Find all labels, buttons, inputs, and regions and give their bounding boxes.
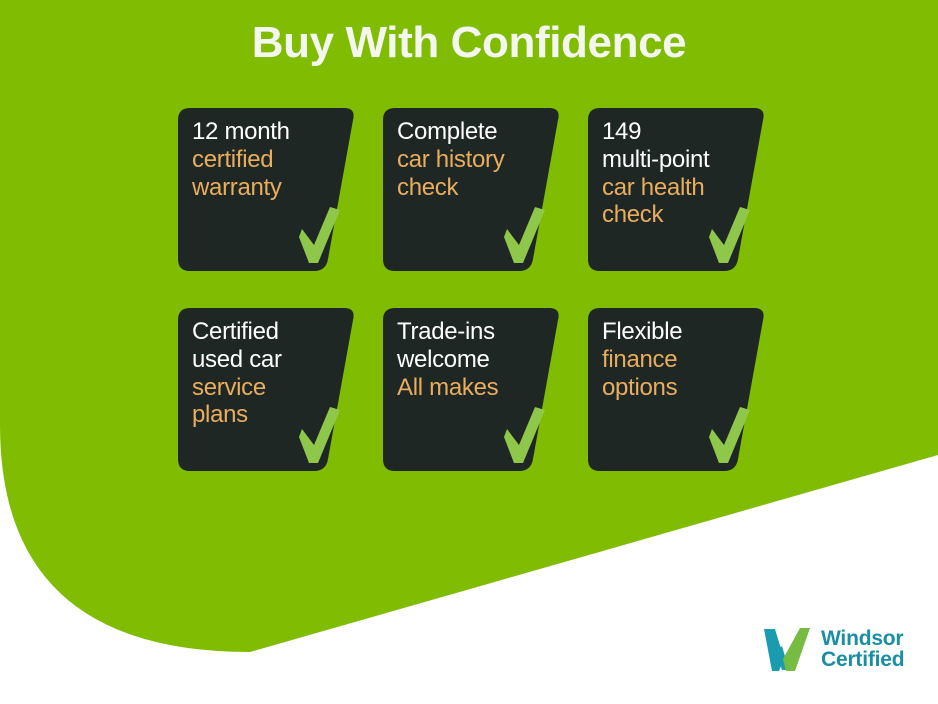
card-line: All makes — [397, 374, 543, 402]
check-icon — [296, 407, 342, 463]
windsor-w-icon — [762, 626, 812, 672]
windsor-certified-logo[interactable]: Windsor Certified — [762, 626, 904, 672]
check-icon — [501, 407, 547, 463]
feature-card-flexible-finance-options[interactable]: Flexible finance options — [588, 308, 766, 471]
card-line: car health — [602, 174, 748, 202]
card-line: Complete — [397, 118, 543, 146]
feature-card-149-multi-point-car-health-check[interactable]: 149 multi-point car health check — [588, 108, 766, 271]
check-icon — [706, 207, 752, 263]
check-icon — [706, 407, 752, 463]
card-line: check — [397, 174, 543, 202]
feature-card-row-bottom: Certified used car service plans Trade-i… — [178, 308, 768, 471]
card-line: welcome — [397, 346, 543, 374]
card-line: Flexible — [602, 318, 748, 346]
page-title: Buy With Confidence — [0, 18, 938, 67]
card-text-block: Trade-ins welcome All makes — [397, 318, 543, 401]
card-text-block: 12 month certified warranty — [192, 118, 338, 201]
check-icon — [501, 207, 547, 263]
logo-line-windsor: Windsor — [821, 628, 904, 649]
card-line: options — [602, 374, 748, 402]
card-line: service — [192, 374, 338, 402]
logo-wordmark: Windsor Certified — [821, 628, 904, 671]
card-line: car history — [397, 146, 543, 174]
feature-card-row-top: 12 month certified warranty Complete car… — [178, 108, 768, 271]
card-line: 12 month — [192, 118, 338, 146]
card-line: certified — [192, 146, 338, 174]
poster-canvas: Buy With Confidence 12 month certified w… — [0, 0, 938, 704]
feature-card-certified-used-car-service-plans[interactable]: Certified used car service plans — [178, 308, 356, 471]
card-line: warranty — [192, 174, 338, 202]
feature-card-12-month-certified-warranty[interactable]: 12 month certified warranty — [178, 108, 356, 271]
card-line: Certified — [192, 318, 338, 346]
card-line: multi-point — [602, 146, 748, 174]
feature-card-complete-car-history-check[interactable]: Complete car history check — [383, 108, 561, 271]
feature-card-trade-ins-welcome-all-makes[interactable]: Trade-ins welcome All makes — [383, 308, 561, 471]
card-text-block: Flexible finance options — [602, 318, 748, 401]
logo-line-certified: Certified — [821, 649, 904, 670]
card-line: finance — [602, 346, 748, 374]
card-line: used car — [192, 346, 338, 374]
card-line: Trade-ins — [397, 318, 543, 346]
feature-card-grid: 12 month certified warranty Complete car… — [178, 108, 768, 471]
card-text-block: Complete car history check — [397, 118, 543, 201]
card-line: 149 — [602, 118, 748, 146]
check-icon — [296, 207, 342, 263]
